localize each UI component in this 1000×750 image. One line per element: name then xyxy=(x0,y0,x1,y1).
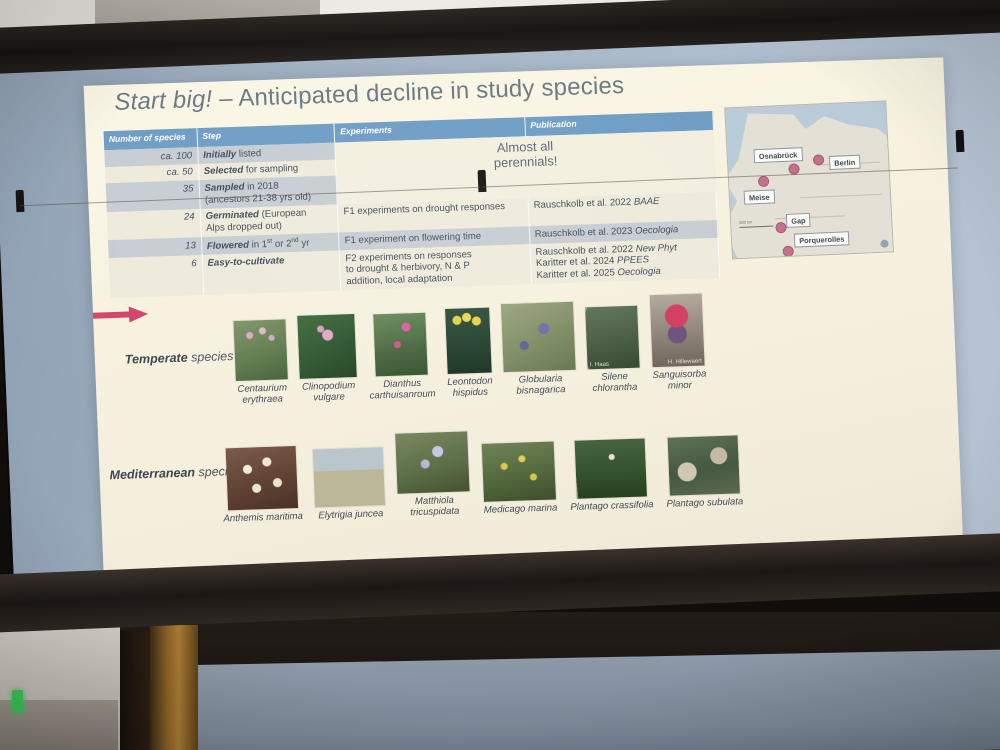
species-caption: Matthiola tricuspidata xyxy=(410,495,460,519)
species-item: Centaurium erythraea xyxy=(233,319,288,406)
species-caption: Clinopodium vulgare xyxy=(302,380,356,404)
map-label-meise: Meise xyxy=(744,189,775,204)
species-item: Plantago crassifolia xyxy=(568,439,654,514)
map-label-berlin: Berlin xyxy=(829,155,861,170)
species-photo xyxy=(667,436,739,496)
cell-number: 24 xyxy=(107,209,201,240)
species-photo xyxy=(482,442,556,502)
species-caption: Globularia bisnagarica xyxy=(516,373,566,397)
presentation-slide: Start big! – Anticipated decline in stud… xyxy=(84,57,963,570)
temperate-label-bold: Temperate xyxy=(125,351,188,367)
species-photo xyxy=(233,319,287,381)
screen-clip xyxy=(956,130,965,152)
species-photo xyxy=(396,431,470,493)
cell-experiments: F2 experiments on responses to drought &… xyxy=(340,244,532,290)
mediterranean-species-photo-row: Anthemis maritima Elytrigia juncea Matth… xyxy=(220,422,743,525)
exit-sign-light xyxy=(12,690,23,712)
species-photo xyxy=(574,439,646,499)
species-item: Dianthus carthuisanroum xyxy=(366,312,436,402)
species-caption: Silene chlorantha xyxy=(592,371,638,395)
door-frame-dark xyxy=(118,630,150,750)
species-photo xyxy=(445,308,492,374)
photo-credit: I. Haas xyxy=(590,362,609,369)
species-item: Anthemis maritima xyxy=(221,446,304,525)
temperate-label-rest: species xyxy=(187,349,233,365)
species-item: H. Hillewaert Sanguisorba minor xyxy=(649,293,707,392)
species-photo xyxy=(297,314,357,379)
species-photo: H. Hillewaert xyxy=(650,293,705,367)
lecture-room-photo: Start big! – Anticipated decline in stud… xyxy=(0,0,1000,750)
cell-number: 6 xyxy=(109,255,204,298)
species-photo xyxy=(501,302,576,372)
slide-title: Start big! – Anticipated decline in stud… xyxy=(114,66,815,117)
species-photo: I. Haas xyxy=(586,306,641,370)
species-caption: Anthemis maritima xyxy=(223,511,303,525)
screen-clip xyxy=(16,190,25,212)
species-item: Globularia bisnagarica xyxy=(501,302,577,398)
species-photo xyxy=(373,313,428,377)
cell-publication: Rauschkolb et al. 2022 New Phyt Karitter… xyxy=(530,238,720,284)
species-item: Clinopodium vulgare xyxy=(297,314,358,404)
map-label-porquerolles: Porquerolles xyxy=(794,231,850,247)
cell-step: Germinated (European Alps dropped out) xyxy=(200,204,339,237)
species-item: Matthiola tricuspidata xyxy=(396,431,471,519)
study-species-table: Number of species Step Experiments Publi… xyxy=(104,111,721,298)
species-caption: Sanguisorba minor xyxy=(652,368,707,392)
map-label-gap: Gap xyxy=(786,213,811,228)
species-item: Elytrigia juncea xyxy=(313,447,386,522)
cell-step: Easy-to-cultivate xyxy=(202,251,341,296)
species-photo xyxy=(225,446,298,510)
temperate-species-photo-row: Centaurium erythraea Clinopodium vulgare… xyxy=(233,293,707,406)
species-item: I. Haas Silene chlorantha xyxy=(586,306,642,395)
screen-clip xyxy=(478,170,487,192)
species-photo xyxy=(313,447,385,507)
species-caption: Leontodon hispidus xyxy=(447,375,493,399)
slide-title-rest: – Anticipated decline in study species xyxy=(212,72,625,113)
projector-screen: Start big! – Anticipated decline in stud… xyxy=(0,6,1000,607)
species-caption: Medicago marina xyxy=(484,503,558,517)
species-caption: Plantago crassifolia xyxy=(570,500,654,514)
species-caption: Centaurium erythraea xyxy=(237,382,287,406)
door-frame-wood xyxy=(150,625,198,750)
species-item: Plantago subulata xyxy=(664,436,744,511)
map-label-osnabruck: Osnabrück xyxy=(753,147,802,163)
species-caption: Elytrigia juncea xyxy=(318,508,383,521)
species-item: Medicago marina xyxy=(481,442,558,517)
mediterranean-label-bold: Mediterranean xyxy=(109,465,195,482)
cell-number: 35 xyxy=(106,181,200,212)
pink-arrow-pointer xyxy=(85,306,150,324)
temperate-species-label: Temperate species xyxy=(125,349,234,367)
europe-study-sites-map: Osnabrück Berlin Meise Gap Porquerolles … xyxy=(724,100,894,259)
map-scale-label: 500 km xyxy=(739,219,752,225)
slide-title-emphasis: Start big! xyxy=(114,86,213,116)
species-caption: Dianthus carthuisanroum xyxy=(369,377,436,402)
table-body: ca. 100 Initially listed Almost all pere… xyxy=(104,130,719,298)
photo-credit: H. Hillewaert xyxy=(668,359,702,366)
species-caption: Plantago subulata xyxy=(666,497,743,511)
species-item: Leontodon hispidus xyxy=(444,308,493,400)
